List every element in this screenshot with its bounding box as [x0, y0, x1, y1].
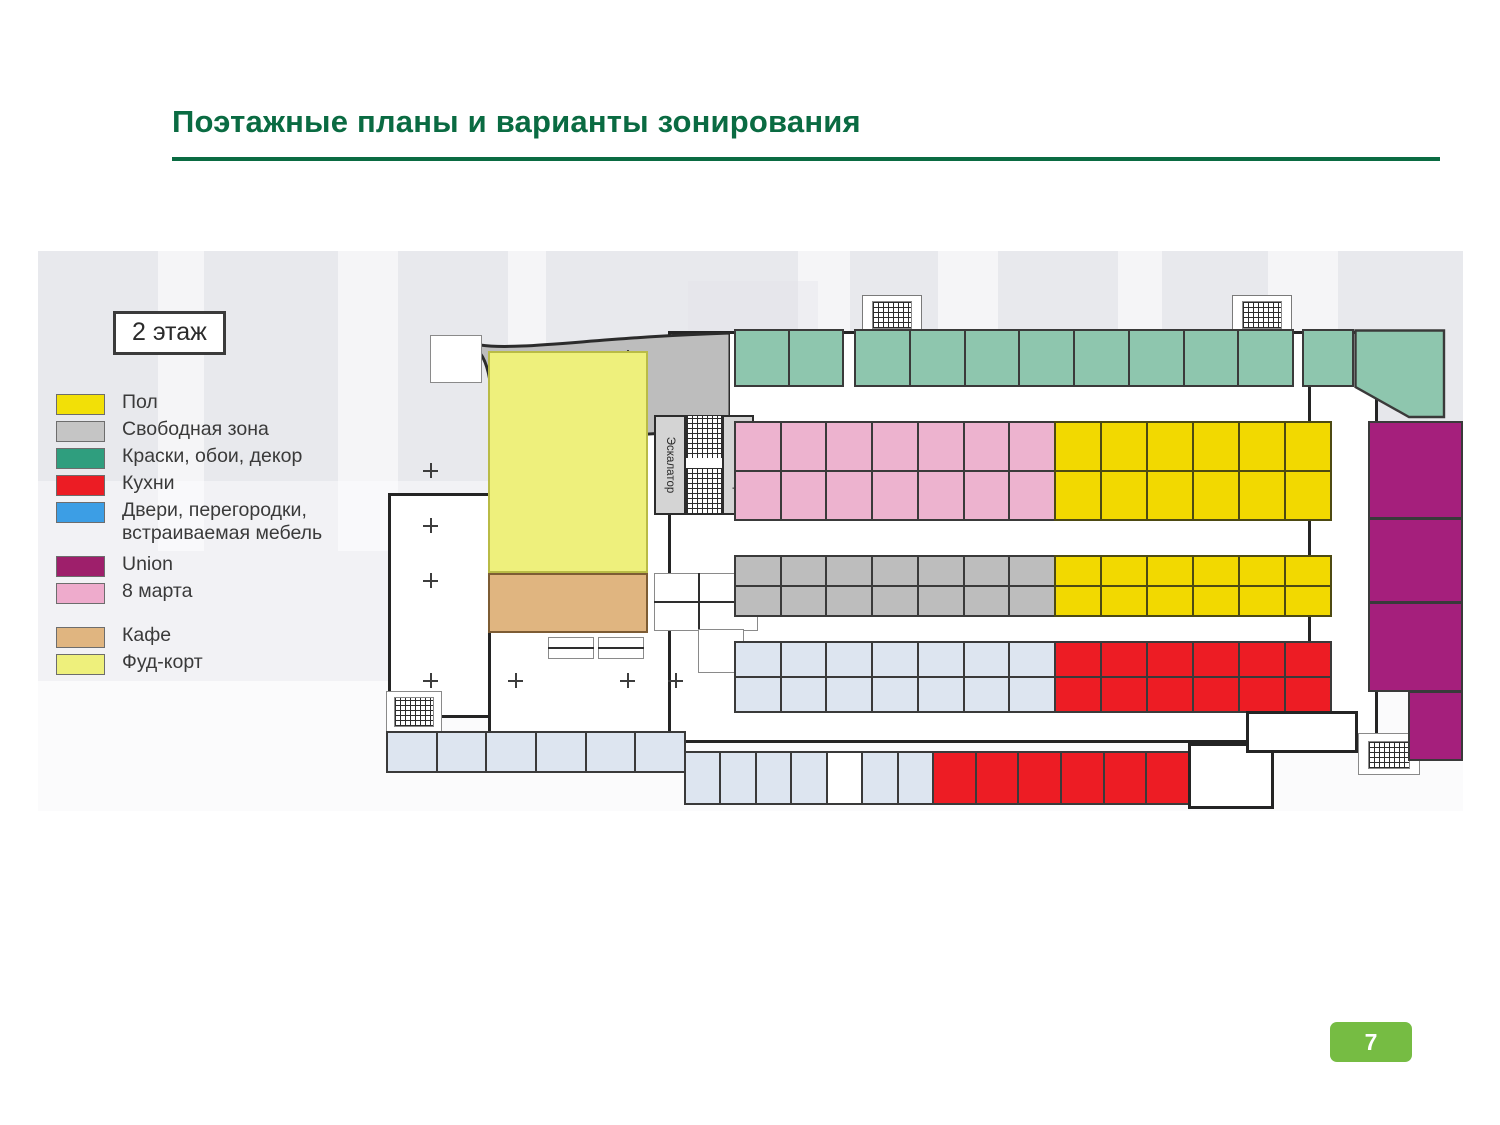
unit-cell[interactable] — [782, 587, 826, 615]
unit-cell[interactable] — [1019, 753, 1062, 803]
axis-cross-icon — [620, 673, 635, 688]
unit-cell[interactable] — [1056, 678, 1100, 711]
unit-cell[interactable] — [782, 472, 826, 519]
corridor-bottom-right — [1246, 711, 1358, 753]
unit-column[interactable] — [736, 643, 782, 711]
unit-cell[interactable] — [965, 557, 1009, 587]
unit-cell[interactable] — [919, 678, 963, 711]
unit-column[interactable] — [965, 423, 1011, 519]
unit-cell[interactable] — [1147, 753, 1188, 803]
unit-cell[interactable] — [736, 423, 780, 472]
unit-cell[interactable] — [919, 423, 963, 472]
unit-cell[interactable] — [736, 472, 780, 519]
legend-label: Пол — [122, 391, 158, 414]
unit-cell[interactable] — [1286, 587, 1330, 615]
unit-cell[interactable] — [782, 678, 826, 711]
escalator-left: Эскалатор — [654, 415, 686, 515]
unit-cell[interactable] — [487, 733, 537, 771]
unit-column[interactable] — [1010, 423, 1054, 519]
axis-cross-icon — [508, 673, 523, 688]
unit-strip-dveri-left[interactable] — [386, 731, 686, 773]
unit-column[interactable] — [1194, 423, 1240, 519]
unit-column[interactable] — [1286, 423, 1330, 519]
unit-cell[interactable] — [873, 472, 917, 519]
legend-divider-gap — [56, 607, 386, 624]
unit-cell[interactable] — [827, 557, 871, 587]
legend-swatch — [56, 421, 105, 442]
unit-cell[interactable] — [1239, 331, 1292, 385]
unit-cell[interactable] — [1056, 557, 1100, 587]
unit-cell[interactable] — [827, 643, 871, 678]
unit-cell[interactable] — [1194, 643, 1238, 678]
unit-cell[interactable] — [721, 753, 756, 803]
unit-cell[interactable] — [863, 753, 898, 803]
unit-cell[interactable] — [1130, 331, 1185, 385]
legend-swatch — [56, 583, 105, 604]
zone-union-2[interactable] — [1368, 518, 1463, 603]
zone-food-court[interactable] — [488, 351, 648, 573]
escalator-landing-line — [686, 458, 722, 468]
unit-cell[interactable] — [1010, 678, 1054, 711]
unit-cell[interactable] — [782, 557, 826, 587]
unit-cell[interactable] — [1075, 331, 1130, 385]
unit-cell[interactable] — [1010, 423, 1054, 472]
unit-cell[interactable] — [1286, 423, 1330, 472]
unit-cell[interactable] — [919, 557, 963, 587]
unit-column[interactable] — [1148, 423, 1194, 519]
unit-cell[interactable] — [934, 753, 977, 803]
unit-row-pol-upper[interactable] — [1054, 421, 1332, 521]
legend-swatch — [56, 556, 105, 577]
legend-swatch — [56, 448, 105, 469]
page-number-badge: 7 — [1330, 1022, 1412, 1062]
unit-cell[interactable] — [977, 753, 1020, 803]
unit-cell[interactable] — [1102, 423, 1146, 472]
unit-column[interactable] — [1148, 643, 1194, 711]
unit-cell[interactable] — [1102, 557, 1146, 587]
unit-row-kuhni-upper[interactable] — [1054, 641, 1332, 713]
unit-column[interactable] — [827, 557, 873, 615]
legend-swatch — [56, 475, 105, 496]
axis-cross-icon — [423, 673, 438, 688]
zone-union-3[interactable] — [1368, 602, 1463, 692]
title-underline-rule — [172, 157, 1440, 161]
legend-item-fud-kort: Фуд-корт — [56, 651, 386, 675]
legend-label: Краски, обои, декор — [122, 445, 302, 468]
unit-cell[interactable] — [782, 423, 826, 472]
unit-cell[interactable] — [1105, 753, 1148, 803]
legend-item-kafe: Кафе — [56, 624, 386, 648]
unit-cell[interactable] — [856, 331, 911, 385]
legend-swatch — [56, 627, 105, 648]
unit-cell[interactable] — [919, 587, 963, 615]
stair-hatch-left-bottom — [394, 697, 434, 727]
unit-cell[interactable] — [965, 472, 1009, 519]
unit-column[interactable] — [1010, 643, 1054, 711]
unit-cell[interactable] — [1194, 587, 1238, 615]
unit-column[interactable] — [827, 643, 873, 711]
legend-swatch — [56, 394, 105, 415]
unit-cell[interactable] — [736, 678, 780, 711]
legend-item-union: Union — [56, 553, 386, 577]
unit-cell[interactable] — [686, 753, 721, 803]
zone-union-1[interactable] — [1368, 421, 1463, 519]
floor-plan-drawing: Эскалатор Эскалатор — [368, 273, 1443, 803]
unit-column[interactable] — [782, 643, 828, 711]
escalator-label: Эскалатор — [664, 437, 676, 493]
unit-cell[interactable] — [965, 587, 1009, 615]
legend-item-8-marta: 8 марта — [56, 580, 386, 604]
unit-cell[interactable] — [965, 643, 1009, 678]
axis-cross-icon — [423, 573, 438, 588]
unit-cell[interactable] — [899, 753, 932, 803]
unit-row-kraski-c[interactable] — [1302, 329, 1354, 387]
unit-column[interactable] — [1010, 557, 1054, 615]
shaft-diag — [548, 647, 594, 649]
unit-column[interactable] — [1102, 557, 1148, 615]
unit-column[interactable] — [873, 643, 919, 711]
unit-cell[interactable] — [1056, 423, 1100, 472]
unit-cell[interactable] — [1240, 557, 1284, 587]
unit-cell[interactable] — [1148, 678, 1192, 711]
unit-column[interactable] — [736, 557, 782, 615]
unit-cell[interactable] — [873, 557, 917, 587]
unit-cell[interactable] — [388, 733, 438, 771]
unit-cell[interactable] — [827, 472, 871, 519]
unit-cell[interactable] — [1286, 643, 1330, 678]
legend-item-svobodnaya-zona: Свободная зона — [56, 418, 386, 442]
legend-label: Свободная зона — [122, 418, 269, 441]
unit-column[interactable] — [1102, 423, 1148, 519]
unit-cell[interactable] — [736, 557, 780, 587]
unit-cell[interactable] — [965, 678, 1009, 711]
unit-column[interactable] — [873, 557, 919, 615]
unit-column[interactable] — [1286, 643, 1330, 711]
unit-column[interactable] — [782, 557, 828, 615]
zone-union-tail[interactable] — [1408, 691, 1463, 761]
unit-cell[interactable] — [919, 643, 963, 678]
legend-label: Кафе — [122, 624, 171, 647]
unit-cell[interactable] — [1102, 587, 1146, 615]
unit-cell[interactable] — [736, 331, 790, 385]
legend: Пол Свободная зона Краски, обои, декор К… — [56, 391, 386, 678]
unit-row-pol-lower[interactable] — [1054, 555, 1332, 617]
unit-cell[interactable] — [1010, 472, 1054, 519]
legend-label: Фуд-корт — [122, 651, 203, 674]
unit-column[interactable] — [1286, 557, 1330, 615]
legend-label: Кухни — [122, 472, 175, 495]
unit-row-kraski-a[interactable] — [734, 329, 844, 387]
legend-swatch — [56, 502, 105, 523]
unit-column[interactable] — [1102, 643, 1148, 711]
shaft-diag — [598, 647, 644, 649]
unit-cell[interactable] — [1010, 587, 1054, 615]
zone-cafe[interactable] — [488, 573, 648, 633]
unit-cell[interactable] — [736, 587, 780, 615]
unit-cell[interactable] — [1194, 678, 1238, 711]
unit-cell[interactable] — [966, 331, 1021, 385]
unit-cell[interactable] — [537, 733, 587, 771]
unit-column[interactable] — [1240, 643, 1286, 711]
unit-cell[interactable] — [1148, 423, 1192, 472]
axis-cross-icon — [423, 463, 438, 478]
unit-column[interactable] — [873, 423, 919, 519]
unit-cell[interactable] — [1194, 472, 1238, 519]
unit-column[interactable] — [1240, 423, 1286, 519]
unit-cell[interactable] — [1056, 587, 1100, 615]
unit-strip-dveri-mid[interactable] — [684, 751, 934, 805]
unit-cell[interactable] — [757, 753, 792, 803]
unit-cell[interactable] — [782, 643, 826, 678]
unit-row-dveri[interactable] — [734, 641, 1056, 713]
legend-item-dveri-peregorodki: Двери, перегородки, встраиваемая мебель — [56, 499, 386, 545]
roof-hatch-2 — [1242, 301, 1282, 329]
unit-column[interactable] — [919, 643, 965, 711]
legend-label: Двери, перегородки, встраиваемая мебель — [122, 499, 322, 545]
unit-cell[interactable] — [636, 733, 684, 771]
unit-cell[interactable] — [438, 733, 488, 771]
unit-cell[interactable] — [1286, 472, 1330, 519]
unit-cell[interactable] — [827, 423, 871, 472]
roof-hatch-3 — [1368, 741, 1410, 769]
unit-cell[interactable] — [587, 733, 637, 771]
unit-column[interactable] — [1056, 643, 1102, 711]
unit-column[interactable] — [1194, 643, 1240, 711]
unit-cell[interactable] — [790, 331, 842, 385]
unit-cell[interactable] — [1185, 331, 1240, 385]
unit-column[interactable] — [827, 423, 873, 519]
unit-cell[interactable] — [965, 423, 1009, 472]
roof-hatch-1 — [872, 301, 912, 329]
unit-cell[interactable] — [1056, 643, 1100, 678]
unit-strip-kuhni-right[interactable] — [932, 751, 1190, 805]
unit-cell[interactable] — [1194, 423, 1238, 472]
page-title: Поэтажные планы и варианты зонирования — [172, 104, 861, 140]
legend-label: Union — [122, 553, 173, 576]
unit-cell[interactable] — [1010, 643, 1054, 678]
corner-unit-shape — [1354, 329, 1462, 419]
unit-column[interactable] — [782, 423, 828, 519]
unit-cell[interactable] — [1194, 557, 1238, 587]
unit-cell[interactable] — [1010, 557, 1054, 587]
axis-cross-icon — [668, 673, 683, 688]
unit-column[interactable] — [1148, 557, 1194, 615]
unit-cell[interactable] — [1240, 472, 1284, 519]
legend-label: 8 марта — [122, 580, 193, 603]
unit-column[interactable] — [1240, 557, 1286, 615]
unit-column[interactable] — [1194, 557, 1240, 615]
unit-cell[interactable] — [1240, 423, 1284, 472]
legend-item-kraski-oboi-dekor: Краски, обои, декор — [56, 445, 386, 469]
unit-cell[interactable] — [873, 643, 917, 678]
unit-cell[interactable] — [1286, 678, 1330, 711]
unit-cell[interactable] — [1148, 587, 1192, 615]
unit-cell[interactable] — [873, 678, 917, 711]
unit-column[interactable] — [919, 557, 965, 615]
unit-cell[interactable] — [1102, 643, 1146, 678]
unit-cell[interactable] — [827, 678, 871, 711]
unit-cell[interactable] — [919, 472, 963, 519]
unit-cell-free[interactable] — [828, 753, 863, 803]
unit-kraski-corner[interactable] — [1354, 329, 1462, 419]
unit-cell[interactable] — [1240, 678, 1284, 711]
unit-row-kraski-b[interactable] — [854, 329, 1294, 387]
unit-cell[interactable] — [1240, 643, 1284, 678]
unit-cell[interactable] — [792, 753, 827, 803]
legend-item-pol: Пол — [56, 391, 386, 415]
legend-item-kuhni: Кухни — [56, 472, 386, 496]
unit-cell[interactable] — [1102, 678, 1146, 711]
unit-cell[interactable] — [736, 643, 780, 678]
unit-row-svobodnaya-zona[interactable] — [734, 555, 1056, 617]
unit-column[interactable] — [736, 423, 782, 519]
unit-column[interactable] — [919, 423, 965, 519]
axis-cross-icon — [423, 518, 438, 533]
unit-cell[interactable] — [911, 331, 966, 385]
unit-column[interactable] — [965, 643, 1011, 711]
unit-cell[interactable] — [827, 587, 871, 615]
unit-cell[interactable] — [1304, 331, 1352, 385]
legend-swatch — [56, 654, 105, 675]
stair-box-upper-left — [430, 335, 482, 383]
unit-cell[interactable] — [1148, 472, 1192, 519]
unit-cell[interactable] — [1148, 557, 1192, 587]
unit-cell[interactable] — [1102, 472, 1146, 519]
unit-cell[interactable] — [873, 423, 917, 472]
unit-cell[interactable] — [873, 587, 917, 615]
unit-cell[interactable] — [1056, 472, 1100, 519]
unit-cell[interactable] — [1286, 557, 1330, 587]
unit-cell[interactable] — [1148, 643, 1192, 678]
unit-column[interactable] — [1056, 423, 1102, 519]
unit-cell[interactable] — [1240, 587, 1284, 615]
unit-column[interactable] — [1056, 557, 1102, 615]
floor-plan-panel: 2 этаж Пол Свободная зона Краски, обои, … — [38, 251, 1463, 811]
unit-column[interactable] — [965, 557, 1011, 615]
unit-row-8-marta[interactable] — [734, 421, 1056, 521]
unit-cell[interactable] — [1020, 331, 1075, 385]
unit-cell[interactable] — [1062, 753, 1105, 803]
floor-badge: 2 этаж — [113, 311, 226, 355]
